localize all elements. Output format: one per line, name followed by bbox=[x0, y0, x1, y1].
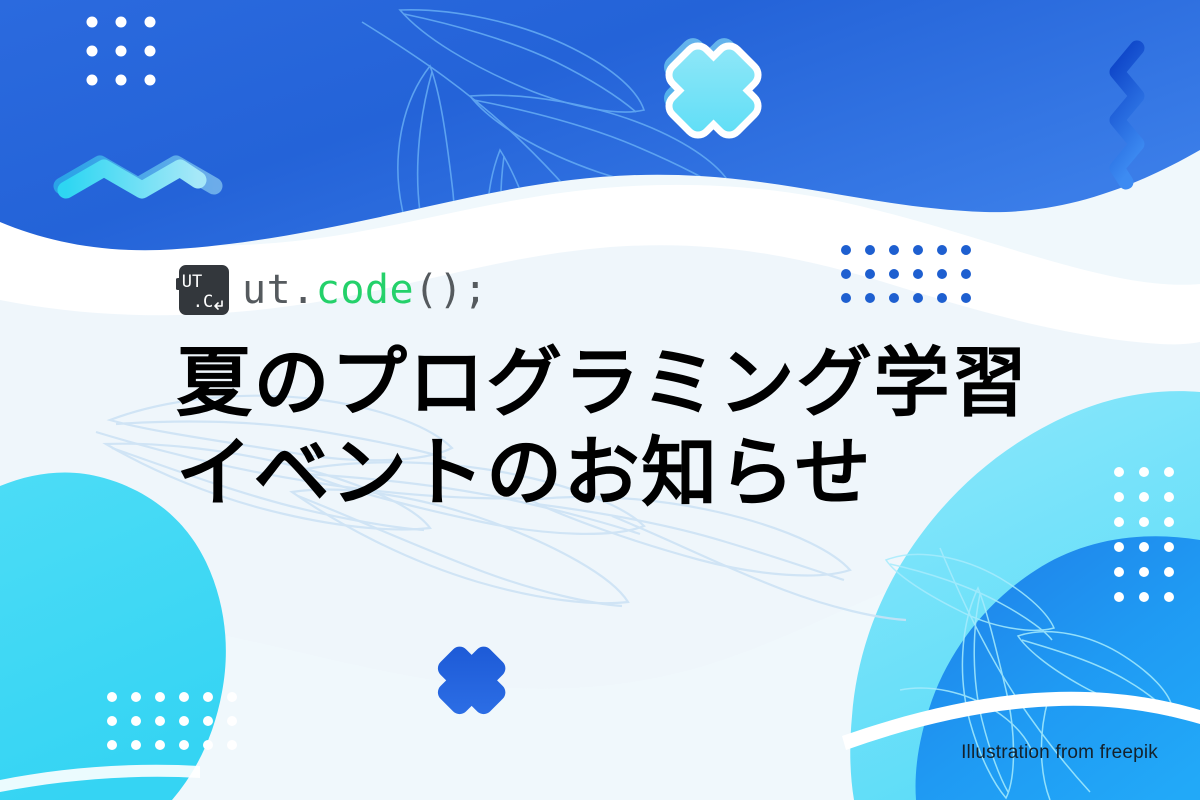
wordmark-prefix: ut. bbox=[242, 270, 316, 310]
brand-lockup: UT .C ut.code(); bbox=[176, 262, 488, 318]
wordmark-highlight: code bbox=[316, 270, 414, 310]
headline-line-2: イベントのお知らせ bbox=[176, 428, 1096, 518]
headline-line-1: 夏のプログラミング学習 bbox=[176, 338, 1096, 428]
logo-text-ut: UT bbox=[182, 272, 202, 292]
headline: 夏のプログラミング学習 イベントのお知らせ bbox=[176, 338, 1096, 517]
wordmark-suffix: (); bbox=[414, 270, 488, 310]
illustration-credit: Illustration from freepik bbox=[961, 742, 1158, 764]
banner-content: UT .C ut.code(); 夏のプログラミング学習 イベントのお知らせ I… bbox=[0, 0, 1200, 800]
utcode-logo-icon: UT .C bbox=[176, 262, 232, 318]
logo-text-dotc: .C bbox=[193, 292, 213, 312]
brand-wordmark: ut.code(); bbox=[242, 270, 488, 310]
event-banner: UT .C ut.code(); 夏のプログラミング学習 イベントのお知らせ I… bbox=[0, 0, 1200, 800]
